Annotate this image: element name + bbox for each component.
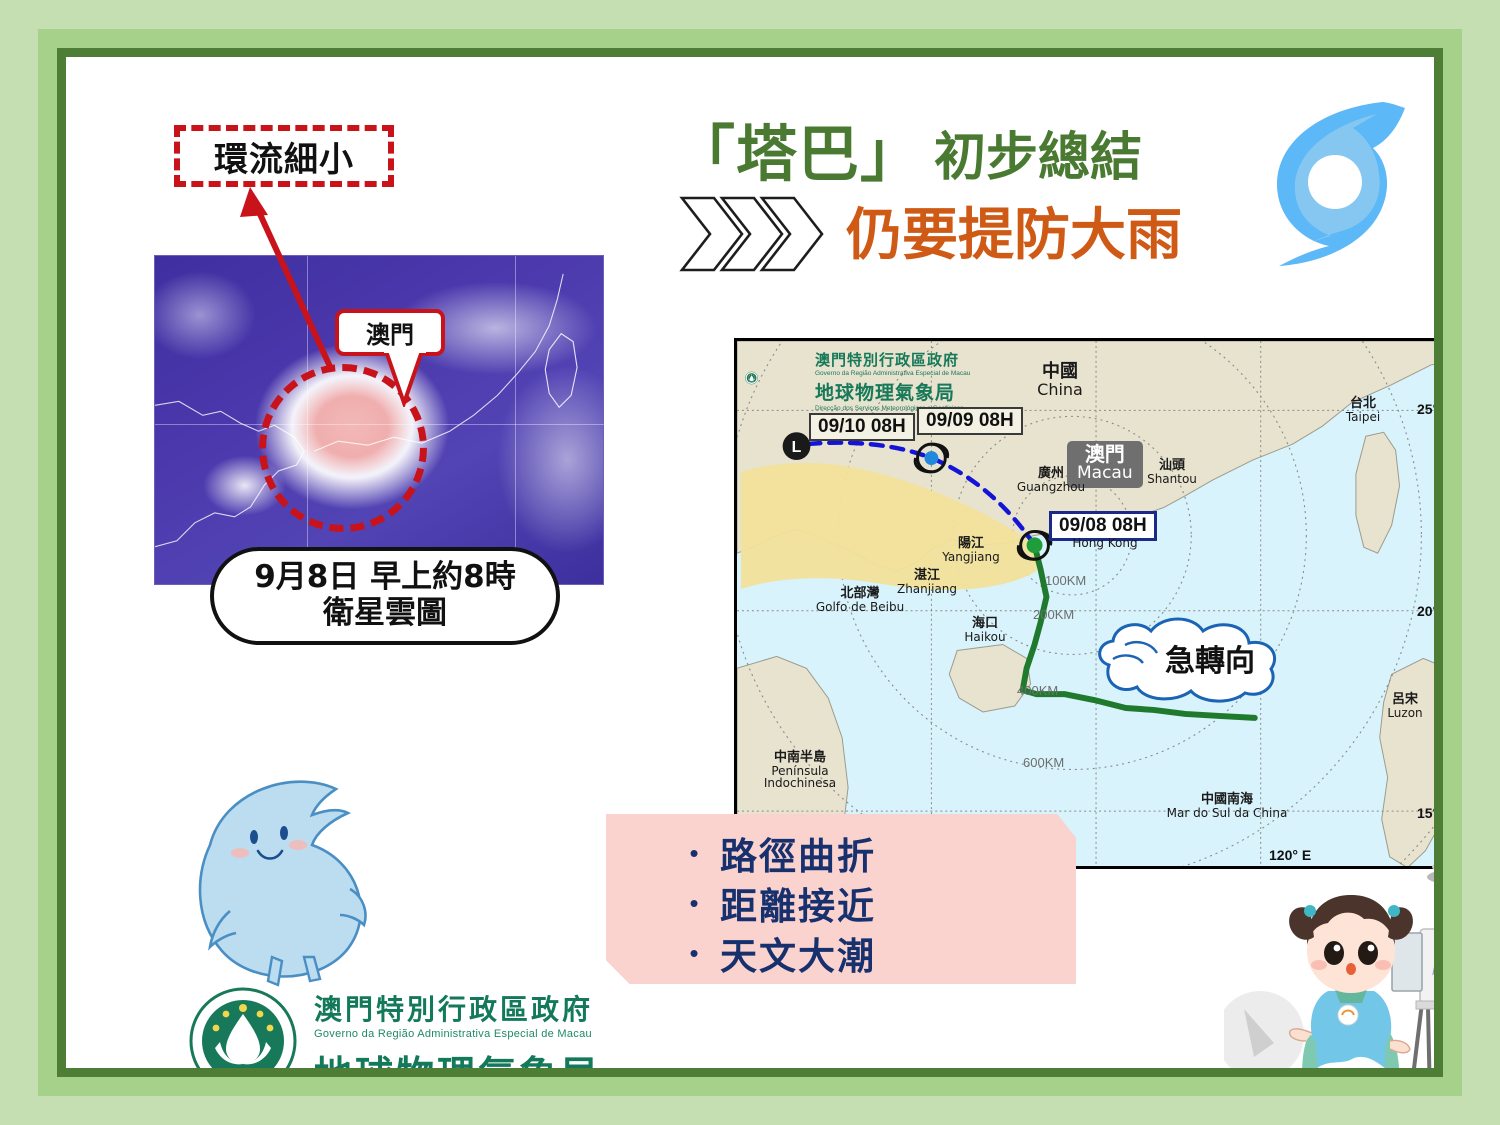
satellite-caption-line2: 衛星雲圖 <box>323 596 447 632</box>
callout-tail-icon <box>382 351 442 407</box>
header: 「塔巴」初步總結 仍要提防大雨 <box>666 82 1426 272</box>
bullet-dot: • <box>668 888 720 919</box>
macau-emblem-icon <box>745 347 809 409</box>
girl-meteorologist-mascot: PM10 O3 <box>1224 847 1434 1068</box>
macau-tag-cn: 澳門 <box>1077 444 1133 465</box>
list-item: • 路徑曲折 <box>668 828 1076 878</box>
circulation-annotation-box: 環流細小 <box>174 125 394 187</box>
range-ring-label-400km: 400KM <box>1017 683 1058 698</box>
svg-text:L: L <box>792 439 802 456</box>
forecast-label-0910[interactable]: 09/10 08H <box>809 413 915 441</box>
bullet-dot: • <box>668 938 720 969</box>
subtitle-warning: 仍要提防大雨 <box>846 203 1182 268</box>
footer-logo-cn1: 澳門特別行政區政府 <box>314 988 603 1028</box>
range-ring-label-200km: 200KM <box>1033 607 1074 622</box>
list-item: • 天文大潮 <box>668 928 1076 978</box>
circulation-annotation-label: 環流細小 <box>214 132 354 181</box>
lat-label-25n: 25° N <box>1417 401 1434 417</box>
bullet-text: 天文大潮 <box>720 926 876 980</box>
blue-raindrop-mascot <box>188 775 403 990</box>
chevron-triple-icon <box>676 194 846 274</box>
poster-canvas: 「塔巴」初步總結 仍要提防大雨 <box>66 57 1434 1068</box>
macau-callout-label: 澳門 <box>366 315 414 350</box>
svg-text:PM10: PM10 <box>1432 966 1434 978</box>
lat-label-15n: 15° N <box>1417 805 1434 821</box>
satellite-cloud-image <box>154 255 604 585</box>
macau-callout-box: 澳門 <box>335 309 445 356</box>
bullet-dot: • <box>668 838 720 869</box>
title-storm-name: 「塔巴」 <box>674 119 922 190</box>
macau-map-tag: 澳門 Macau <box>1067 441 1143 488</box>
map-logo-cn1: 澳門特別行政區政府 <box>815 349 970 370</box>
range-ring-label-100km: 100KM <box>1045 573 1086 588</box>
map-logo-pt1: Governo da Região Administrativa Especia… <box>815 370 970 377</box>
map-logo-cn2: 地球物理氣象局 <box>815 378 970 405</box>
forecast-label-0909[interactable]: 09/09 08H <box>917 407 1023 435</box>
range-ring-label-600km: 600KM <box>1023 755 1064 770</box>
title-summary: 初步總結 <box>934 128 1142 188</box>
list-item: • 距離接近 <box>668 878 1076 928</box>
bullet-text: 路徑曲折 <box>720 826 876 880</box>
typhoon-spiral-icon <box>1265 94 1410 269</box>
footer-dsmg-logo: MACAU 澳門特別行政區政府 Governo da Região Admini… <box>188 982 608 1068</box>
satellite-caption-line1: 9月8日 早上約8時 <box>254 560 516 596</box>
lat-label-20n: 20° N <box>1417 603 1434 619</box>
macau-emblem-icon: MACAU <box>188 986 298 1068</box>
satellite-image-panel: 環流細小 澳門 9月8日 早上約8時 衛星雲圖 <box>154 255 604 585</box>
macau-tag-en: Macau <box>1077 465 1133 483</box>
key-points-panel: • 路徑曲折 • 距離接近 • 天文大潮 <box>606 814 1076 984</box>
forecast-label-0908[interactable]: 09/08 08H <box>1049 511 1157 541</box>
footer-logo-pt1: Governo da Região Administrativa Especia… <box>314 1028 603 1040</box>
map-dsmg-logo: 澳門特別行政區政府 Governo da Região Administrati… <box>745 347 1045 409</box>
footer-logo-cn2: 地球物理氣象局 <box>314 1044 603 1068</box>
typhoon-track-map[interactable]: L <box>734 338 1434 869</box>
page-title: 「塔巴」初步總結 <box>674 104 1142 193</box>
sharp-turn-annotation-label: 急轉向 <box>1165 636 1255 680</box>
satellite-caption: 9月8日 早上約8時 衛星雲圖 <box>210 547 560 645</box>
bullet-text: 距離接近 <box>720 876 876 930</box>
